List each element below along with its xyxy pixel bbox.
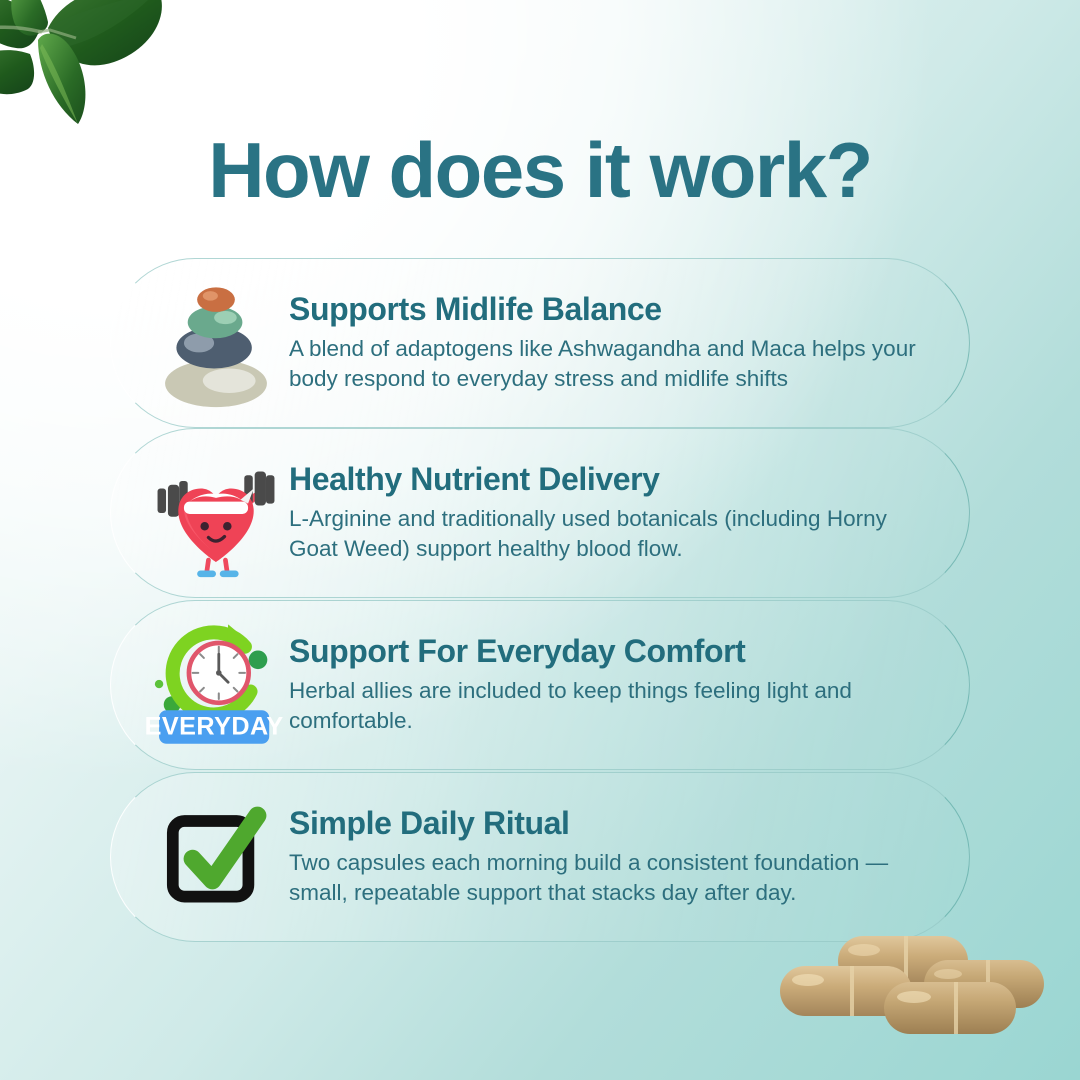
infographic-canvas: How does it work? Supports Midlife Balan… (0, 0, 1080, 1080)
benefit-body-4: Two capsules each morning build a consis… (289, 848, 919, 908)
benefit-title-3: Support For Everyday Comfort (289, 634, 935, 670)
benefit-body-2: L-Arginine and traditionally used botani… (289, 504, 919, 564)
benefit-text-1: Supports Midlife Balance A blend of adap… (289, 292, 935, 394)
benefit-card-3: EVERYDAY Support For Everyday Comfort He… (110, 600, 970, 770)
benefit-text-4: Simple Daily Ritual Two capsules each mo… (289, 806, 935, 908)
stacked-stones-icon (141, 268, 291, 418)
benefit-title-2: Healthy Nutrient Delivery (289, 462, 935, 498)
benefit-card-4: Simple Daily Ritual Two capsules each mo… (110, 772, 970, 942)
benefit-text-3: Support For Everyday Comfort Herbal alli… (289, 634, 935, 736)
leaf-sprig-icon (0, 0, 216, 142)
benefit-body-1: A blend of adaptogens like Ashwagandha a… (289, 334, 919, 394)
page-title: How does it work? (0, 131, 1080, 209)
benefit-card-1: Supports Midlife Balance A blend of adap… (110, 258, 970, 428)
benefit-title-1: Supports Midlife Balance (289, 292, 935, 328)
everyday-banner-label: EVERYDAY (146, 712, 284, 740)
benefit-title-4: Simple Daily Ritual (289, 806, 935, 842)
herbal-capsules-image (776, 922, 1046, 1052)
everyday-clock-icon: EVERYDAY (141, 610, 291, 760)
heart-lifting-weights-icon (141, 438, 291, 588)
benefit-text-2: Healthy Nutrient Delivery L-Arginine and… (289, 462, 935, 564)
benefit-body-3: Herbal allies are included to keep thing… (289, 676, 919, 736)
benefit-card-2: Healthy Nutrient Delivery L-Arginine and… (110, 428, 970, 598)
checked-checkbox-icon (141, 782, 291, 932)
